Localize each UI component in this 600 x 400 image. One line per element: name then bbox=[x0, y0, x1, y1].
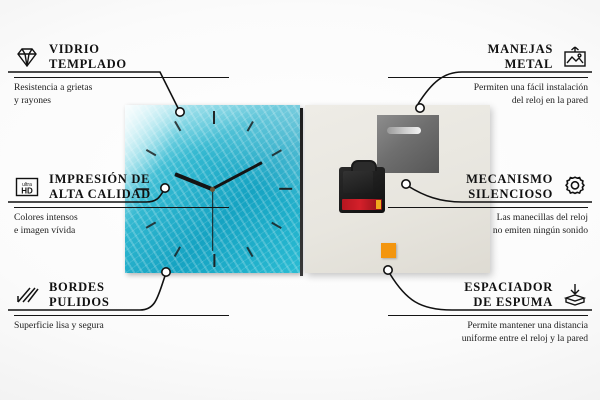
feature-mechanism: MECANISMO SILENCIOSO Las manecillas del … bbox=[388, 172, 588, 237]
feature-title-line2: DE ESPUMA bbox=[464, 295, 553, 310]
battery bbox=[342, 199, 382, 210]
gear-icon bbox=[562, 174, 588, 200]
feature-rule bbox=[14, 315, 229, 316]
clock-tick bbox=[271, 149, 281, 156]
clock-mechanism bbox=[339, 167, 385, 213]
feature-foam-spacer: ESPACIADOR DE ESPUMA Permite mantener un… bbox=[388, 280, 588, 345]
feature-title-line1: IMPRESIÓN DE bbox=[49, 172, 151, 187]
feature-title-line2: TEMPLADO bbox=[49, 57, 127, 72]
feature-rule bbox=[388, 207, 588, 208]
feature-desc-line1: Permite mantener una distancia bbox=[388, 320, 588, 333]
hanger-slot bbox=[387, 127, 421, 134]
mechanism-loop bbox=[351, 160, 377, 171]
feature-edges: BORDES PULIDOS Superficie lisa y segura bbox=[14, 280, 229, 333]
feature-title-line2: SILENCIOSO bbox=[466, 187, 553, 202]
feature-title-line2: PULIDOS bbox=[49, 295, 109, 310]
wall-frame-icon bbox=[562, 44, 588, 70]
clock-tick bbox=[271, 222, 281, 229]
feature-title-line2: ALTA CALIDAD bbox=[49, 187, 151, 202]
feature-title-line1: MANEJAS bbox=[488, 42, 553, 57]
product-infographic: VIDRIO TEMPLADO Resistencia a grietas y … bbox=[0, 0, 600, 400]
svg-text:HD: HD bbox=[21, 187, 33, 196]
arrow-into-box-icon bbox=[562, 282, 588, 308]
clock-tick bbox=[174, 121, 181, 131]
clock-tick bbox=[213, 254, 215, 267]
feature-desc-line2: del reloj en la pared bbox=[388, 95, 588, 108]
ultra-hd-icon: ultra HD bbox=[14, 174, 40, 200]
feature-title-line2: METAL bbox=[488, 57, 553, 72]
feature-desc-line1: Las manecillas del reloj bbox=[388, 212, 588, 225]
clock-tick bbox=[174, 247, 181, 257]
hanger-plate bbox=[377, 115, 439, 173]
clock-tick bbox=[213, 111, 215, 124]
feature-hooks: MANEJAS METAL Permiten una fácil instala… bbox=[388, 42, 588, 107]
feature-title-line1: VIDRIO bbox=[49, 42, 127, 57]
clock-tick bbox=[246, 247, 253, 257]
feature-title-line1: ESPACIADOR bbox=[464, 280, 553, 295]
feature-print: ultra HD IMPRESIÓN DE ALTA CALIDAD Color… bbox=[14, 172, 229, 237]
mechanism-face bbox=[343, 171, 373, 193]
clock-tick bbox=[145, 149, 155, 156]
feature-rule bbox=[388, 77, 588, 78]
feature-desc-line2: uniforme entre el reloj y la pared bbox=[388, 333, 588, 346]
feature-rule bbox=[14, 207, 229, 208]
feature-desc-line1: Colores intensos bbox=[14, 212, 229, 225]
feature-glass: VIDRIO TEMPLADO Resistencia a grietas y … bbox=[14, 42, 229, 107]
clock-tick bbox=[279, 188, 292, 190]
foam-spacer bbox=[381, 243, 396, 258]
polished-edges-icon bbox=[14, 282, 40, 308]
battery-tip bbox=[376, 200, 381, 209]
diamond-icon bbox=[14, 44, 40, 70]
feature-desc-line1: Resistencia a grietas bbox=[14, 82, 229, 95]
feature-title-line1: MECANISMO bbox=[466, 172, 553, 187]
feature-desc-line1: Permiten una fácil instalación bbox=[388, 82, 588, 95]
feature-title-line1: BORDES bbox=[49, 280, 109, 295]
clock-tick bbox=[246, 121, 253, 131]
feature-desc-line1: Superficie lisa y segura bbox=[14, 320, 229, 333]
feature-rule bbox=[388, 315, 588, 316]
feature-desc-line2: no emiten ningún sonido bbox=[388, 225, 588, 238]
feature-desc-line2: e imagen vívida bbox=[14, 225, 229, 238]
feature-rule bbox=[14, 77, 229, 78]
feature-desc-line2: y rayones bbox=[14, 95, 229, 108]
